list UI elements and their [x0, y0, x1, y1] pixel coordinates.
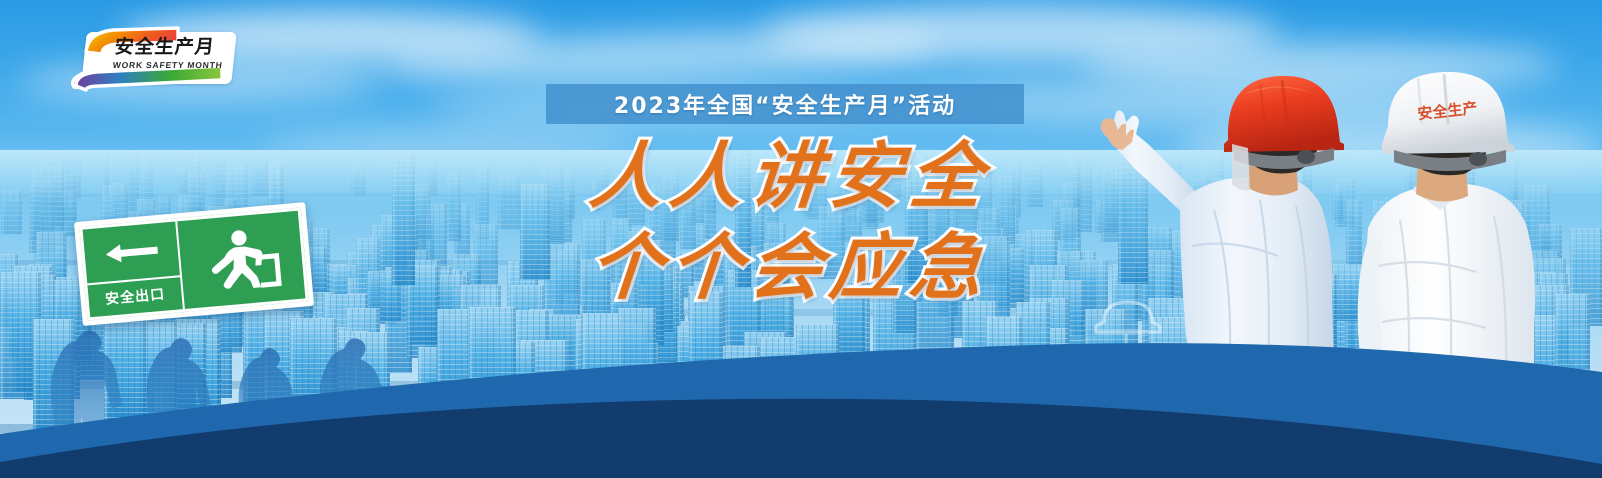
running-person-icon [196, 225, 287, 294]
cloud-shape [760, 4, 1280, 62]
work-safety-month-logo: 安全生产月 WORK SAFETY MONTH [62, 18, 240, 96]
headline-block: 人人讲安全 个个会应急 [540, 134, 1040, 310]
exit-arrow-cell [83, 221, 181, 285]
emergency-exit-sign: 安全出口 [74, 202, 314, 326]
headline-line-2: 个个会应急 [536, 225, 1043, 310]
city-landmark-tower [392, 150, 415, 285]
logo-text-group: 安全生产月 WORK SAFETY MONTH [112, 38, 233, 70]
left-arrow-icon [102, 239, 160, 266]
city-building [446, 173, 461, 241]
headline-line-1: 人人讲安全 [536, 134, 1043, 219]
logo-chinese-text: 安全生产月 [114, 38, 234, 58]
exit-sign-face: 安全出口 [79, 208, 308, 321]
campaign-subtitle-bar: 2023年全国“安全生产月”活动 [546, 84, 1024, 124]
city-building [1, 190, 23, 234]
exit-sign-right-panel [177, 211, 305, 309]
work-safety-month-banner: 安全出口 [0, 0, 1602, 478]
bottom-wave-decoration [0, 338, 1602, 478]
city-building [251, 150, 269, 196]
city-building [351, 165, 365, 196]
exit-sign-label: 安全出口 [105, 288, 166, 307]
cloud-shape [379, 24, 940, 88]
campaign-subtitle-text: 2023年全国“安全生产月”活动 [614, 88, 956, 120]
exit-sign-left-panel: 安全出口 [83, 221, 185, 317]
logo-english-text: WORK SAFETY MONTH [112, 60, 231, 70]
city-building [413, 184, 431, 239]
city-building [498, 174, 521, 229]
exit-sign-label-cell: 安全出口 [87, 278, 182, 318]
